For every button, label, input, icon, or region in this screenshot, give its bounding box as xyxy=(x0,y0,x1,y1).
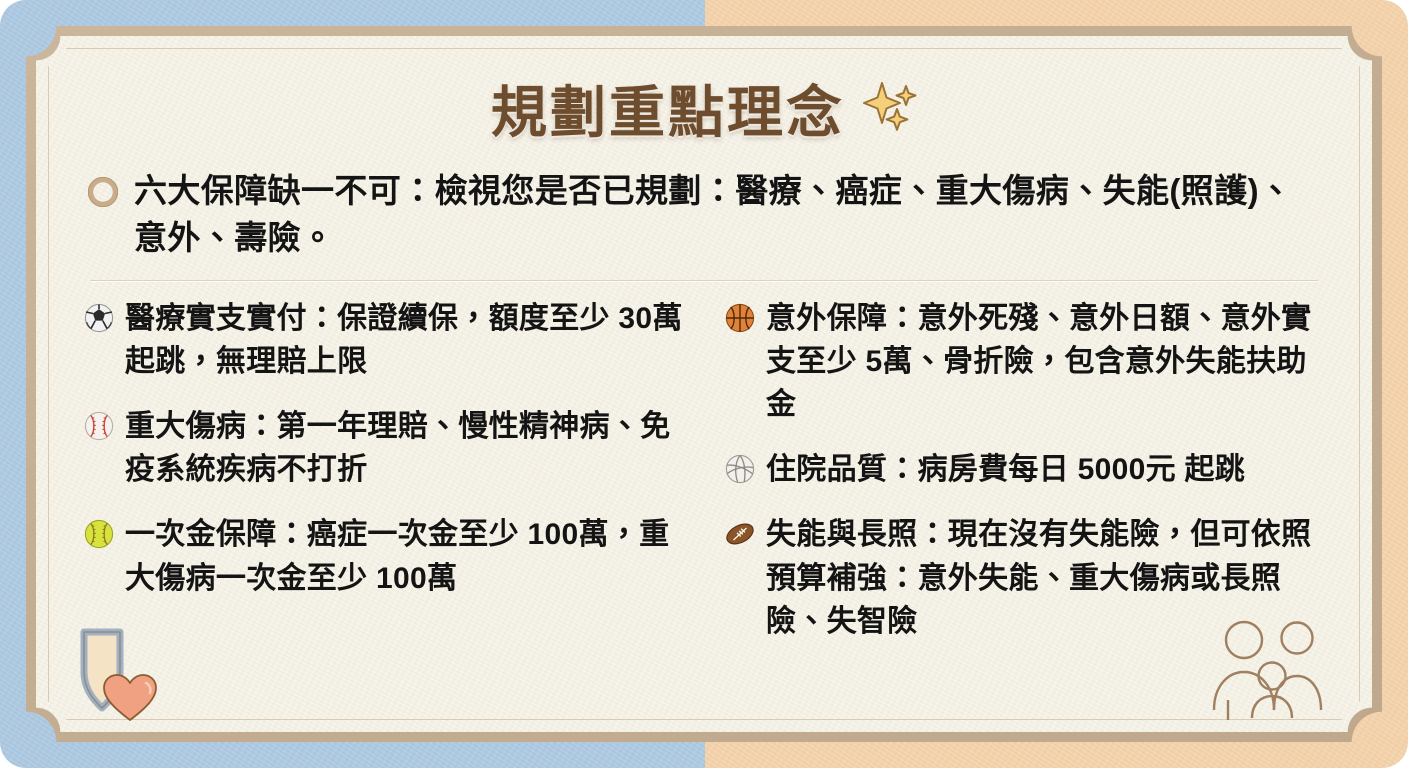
list-item-text: 一次金保障：癌症一次金至少 100萬，重大傷病一次金至少 100萬 xyxy=(125,513,683,599)
list-item: 重大傷病：第一年理賠、慢性精神病、免疫系統疾病不打折 xyxy=(84,405,683,491)
list-item: 意外保障：意外死殘、意外日額、意外實支至少 5萬、骨折險，包含意外失能扶助金 xyxy=(725,297,1324,427)
hero-bullet: 六大保障缺一不可：檢視您是否已規劃：醫療、癌症、重大傷病、失能(照護)、意外、壽… xyxy=(88,168,1324,262)
volleyball-icon xyxy=(725,454,755,489)
benefits-column-right: 意外保障：意外死殘、意外日額、意外實支至少 5萬、骨折險，包含意外失能扶助金 xyxy=(725,297,1324,643)
soccer-ball-icon xyxy=(84,303,114,338)
section-divider xyxy=(90,280,1318,281)
slide-canvas: 規劃重點理念 六大保障缺一不可：檢視您是否已規劃： xyxy=(0,0,1408,768)
list-item-text: 住院品質：病房費每日 5000元 起跳 xyxy=(766,448,1245,491)
content-card: 規劃重點理念 六大保障缺一不可：檢視您是否已規劃： xyxy=(26,26,1382,742)
list-item-text: 意外保障：意外死殘、意外日額、意外實支至少 5萬、骨折險，包含意外失能扶助金 xyxy=(766,297,1324,427)
list-item-text: 重大傷病：第一年理賠、慢性精神病、免疫系統疾病不打折 xyxy=(125,405,683,491)
hero-text: 六大保障缺一不可：檢視您是否已規劃：醫療、癌症、重大傷病、失能(照護)、意外、壽… xyxy=(134,168,1314,262)
benefits-columns: 醫療實支實付：保證續保，額度至少 30萬 起跳，無理賠上限 xyxy=(84,297,1324,643)
list-item: 失能與長照：現在沒有失能險，但可依照預算補強：意外失能、重大傷病或長照險、失智險 xyxy=(725,513,1324,643)
benefits-column-left: 醫療實支實付：保證續保，額度至少 30萬 起跳，無理賠上限 xyxy=(84,297,683,600)
list-item: 醫療實支實付：保證續保，額度至少 30萬 起跳，無理賠上限 xyxy=(84,297,683,383)
page-title: 規劃重點理念 xyxy=(491,68,845,149)
american-football-icon xyxy=(725,519,755,554)
list-item: 住院品質：病房費每日 5000元 起跳 xyxy=(725,448,1324,491)
softball-icon xyxy=(84,519,114,554)
ring-bullet-icon xyxy=(88,177,118,212)
basketball-icon xyxy=(725,303,755,338)
card-content: 規劃重點理念 六大保障缺一不可：檢視您是否已規劃： xyxy=(26,26,1382,742)
list-item-text: 醫療實支實付：保證續保，額度至少 30萬 起跳，無理賠上限 xyxy=(125,297,683,383)
title-row: 規劃重點理念 xyxy=(84,62,1324,154)
baseball-icon xyxy=(84,411,114,446)
sparkles-icon xyxy=(861,80,917,137)
list-item-text: 失能與長照：現在沒有失能險，但可依照預算補強：意外失能、重大傷病或長照險、失智險 xyxy=(766,513,1324,643)
list-item: 一次金保障：癌症一次金至少 100萬，重大傷病一次金至少 100萬 xyxy=(84,513,683,599)
